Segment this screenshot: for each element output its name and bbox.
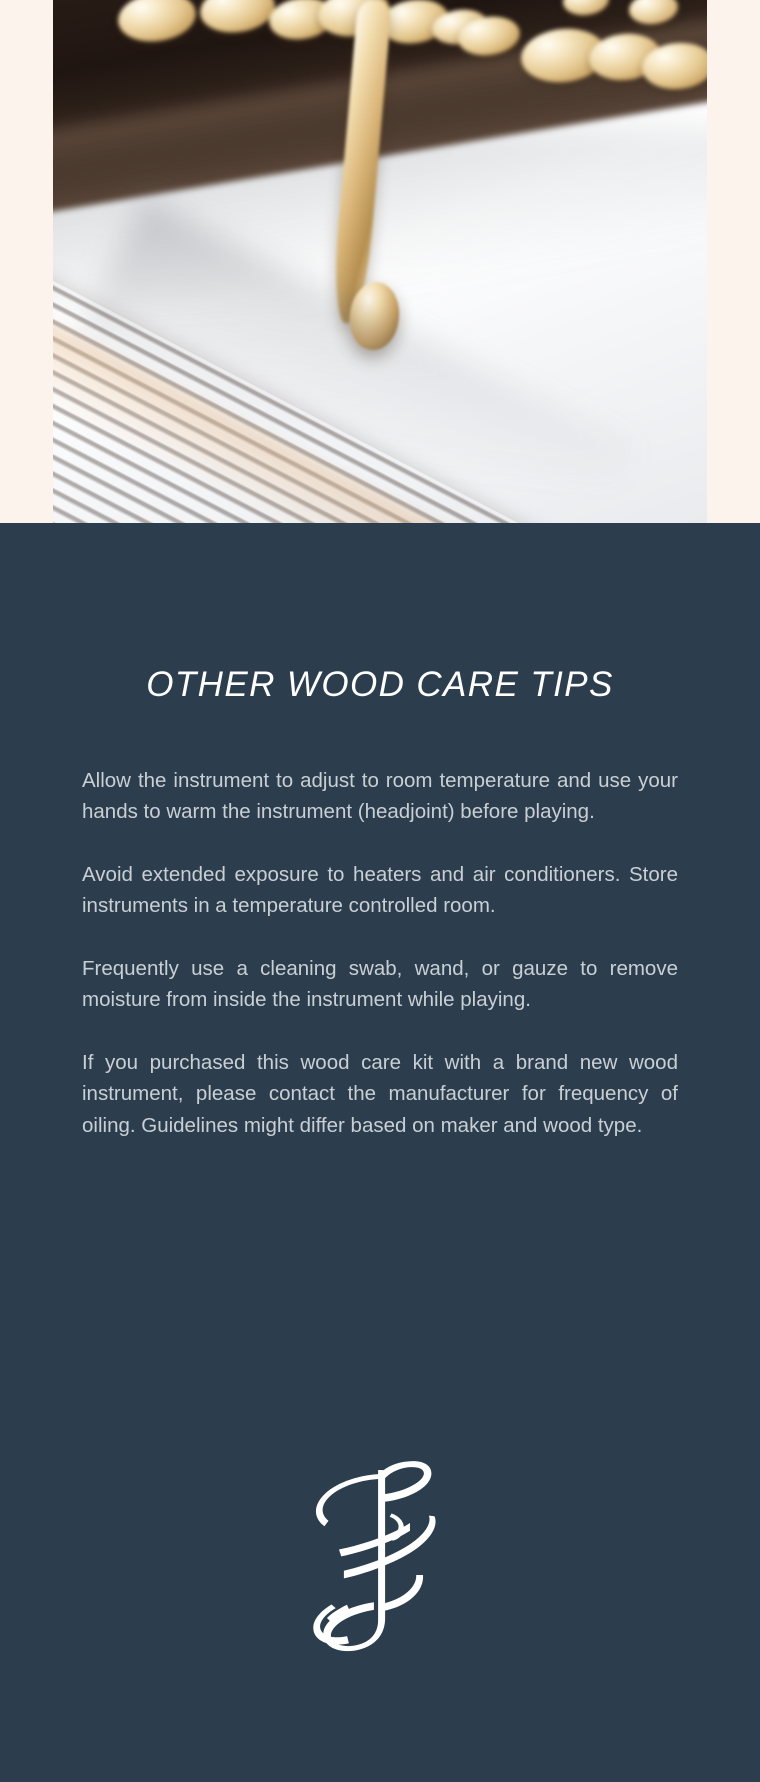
- key-pad: [197, 0, 278, 36]
- key-pad: [115, 0, 199, 46]
- script-monogram-icon: [295, 1452, 465, 1667]
- section-heading: OTHER WOOD CARE TIPS: [0, 666, 760, 705]
- body-copy: Allow the instrument to adjust to room t…: [82, 705, 678, 1142]
- key-pad: [627, 0, 679, 27]
- tip-paragraph: Avoid extended exposure to heaters and a…: [82, 859, 678, 922]
- tip-paragraph: If you purchased this wood care kit with…: [82, 1047, 678, 1142]
- product-photo: [53, 0, 707, 523]
- photo-band: [0, 0, 760, 523]
- tip-paragraph: Allow the instrument to adjust to room t…: [82, 765, 678, 828]
- tip-paragraph: Frequently use a cleaning swab, wand, or…: [82, 953, 678, 1016]
- brand-logo: [0, 1448, 760, 1670]
- page-root: OTHER WOOD CARE TIPS Allow the instrumen…: [0, 0, 760, 1782]
- key-pad: [562, 0, 611, 17]
